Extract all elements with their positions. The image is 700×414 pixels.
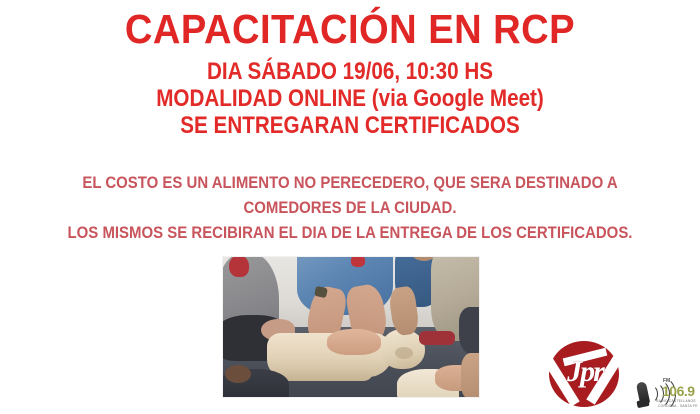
photo-instructor-tattoo — [314, 286, 328, 298]
photo-manikin-base — [277, 365, 373, 381]
photo-compression-hands — [327, 329, 381, 355]
cpr-training-photo — [222, 256, 480, 398]
event-date-line: DIA SÁBADO 19/06, 10:30 HS — [49, 58, 651, 85]
page-title: CAPACITACIÓN EN RCP — [25, 6, 676, 53]
photo-person-far-right-legs — [459, 307, 480, 355]
cost-info-line-1: EL COSTO ES UN ALIMENTO NO PERECEDERO, Q… — [42, 170, 658, 195]
photo-person-left-collar — [229, 256, 249, 277]
photo-foreground-arm — [461, 353, 480, 398]
radio-fm-logo: FM 106.9 RADIO CASTELLANOS CORDOBA - SAN… — [636, 376, 698, 410]
radio-frequency: 106.9 — [662, 383, 695, 399]
event-modality-line: MODALIDAD ONLINE (via Google Meet) — [49, 85, 651, 112]
photo-manikin-face — [395, 347, 413, 359]
jpr-logo-script-text: Jpr — [559, 355, 611, 389]
cost-info-block: EL COSTO ES UN ALIMENTO NO PERECEDERO, Q… — [0, 170, 700, 245]
jpr-logo: Jpr — [543, 337, 625, 413]
radio-tagline-2: CORDOBA - SANTA FE — [658, 404, 698, 408]
cost-info-line-2: COMEDORES DE LA CIUDAD. — [42, 195, 658, 220]
photo-red-kit-bag — [419, 331, 455, 345]
microphone-base-icon — [636, 399, 649, 408]
event-certificates-line: SE ENTREGARAN CERTIFICADOS — [49, 112, 651, 139]
rcp-training-poster: CAPACITACIÓN EN RCP DIA SÁBADO 19/06, 10… — [0, 0, 700, 414]
radio-tagline-1: RADIO CASTELLANOS — [656, 399, 696, 403]
photo-instructor-badge — [351, 256, 365, 267]
photo-foreground-left-hand — [225, 365, 251, 383]
event-details-block: DIA SÁBADO 19/06, 10:30 HS MODALIDAD ONL… — [0, 58, 700, 139]
cost-info-line-3: LOS MISMOS SE RECIBIRAN EL DIA DE LA ENT… — [42, 220, 658, 245]
